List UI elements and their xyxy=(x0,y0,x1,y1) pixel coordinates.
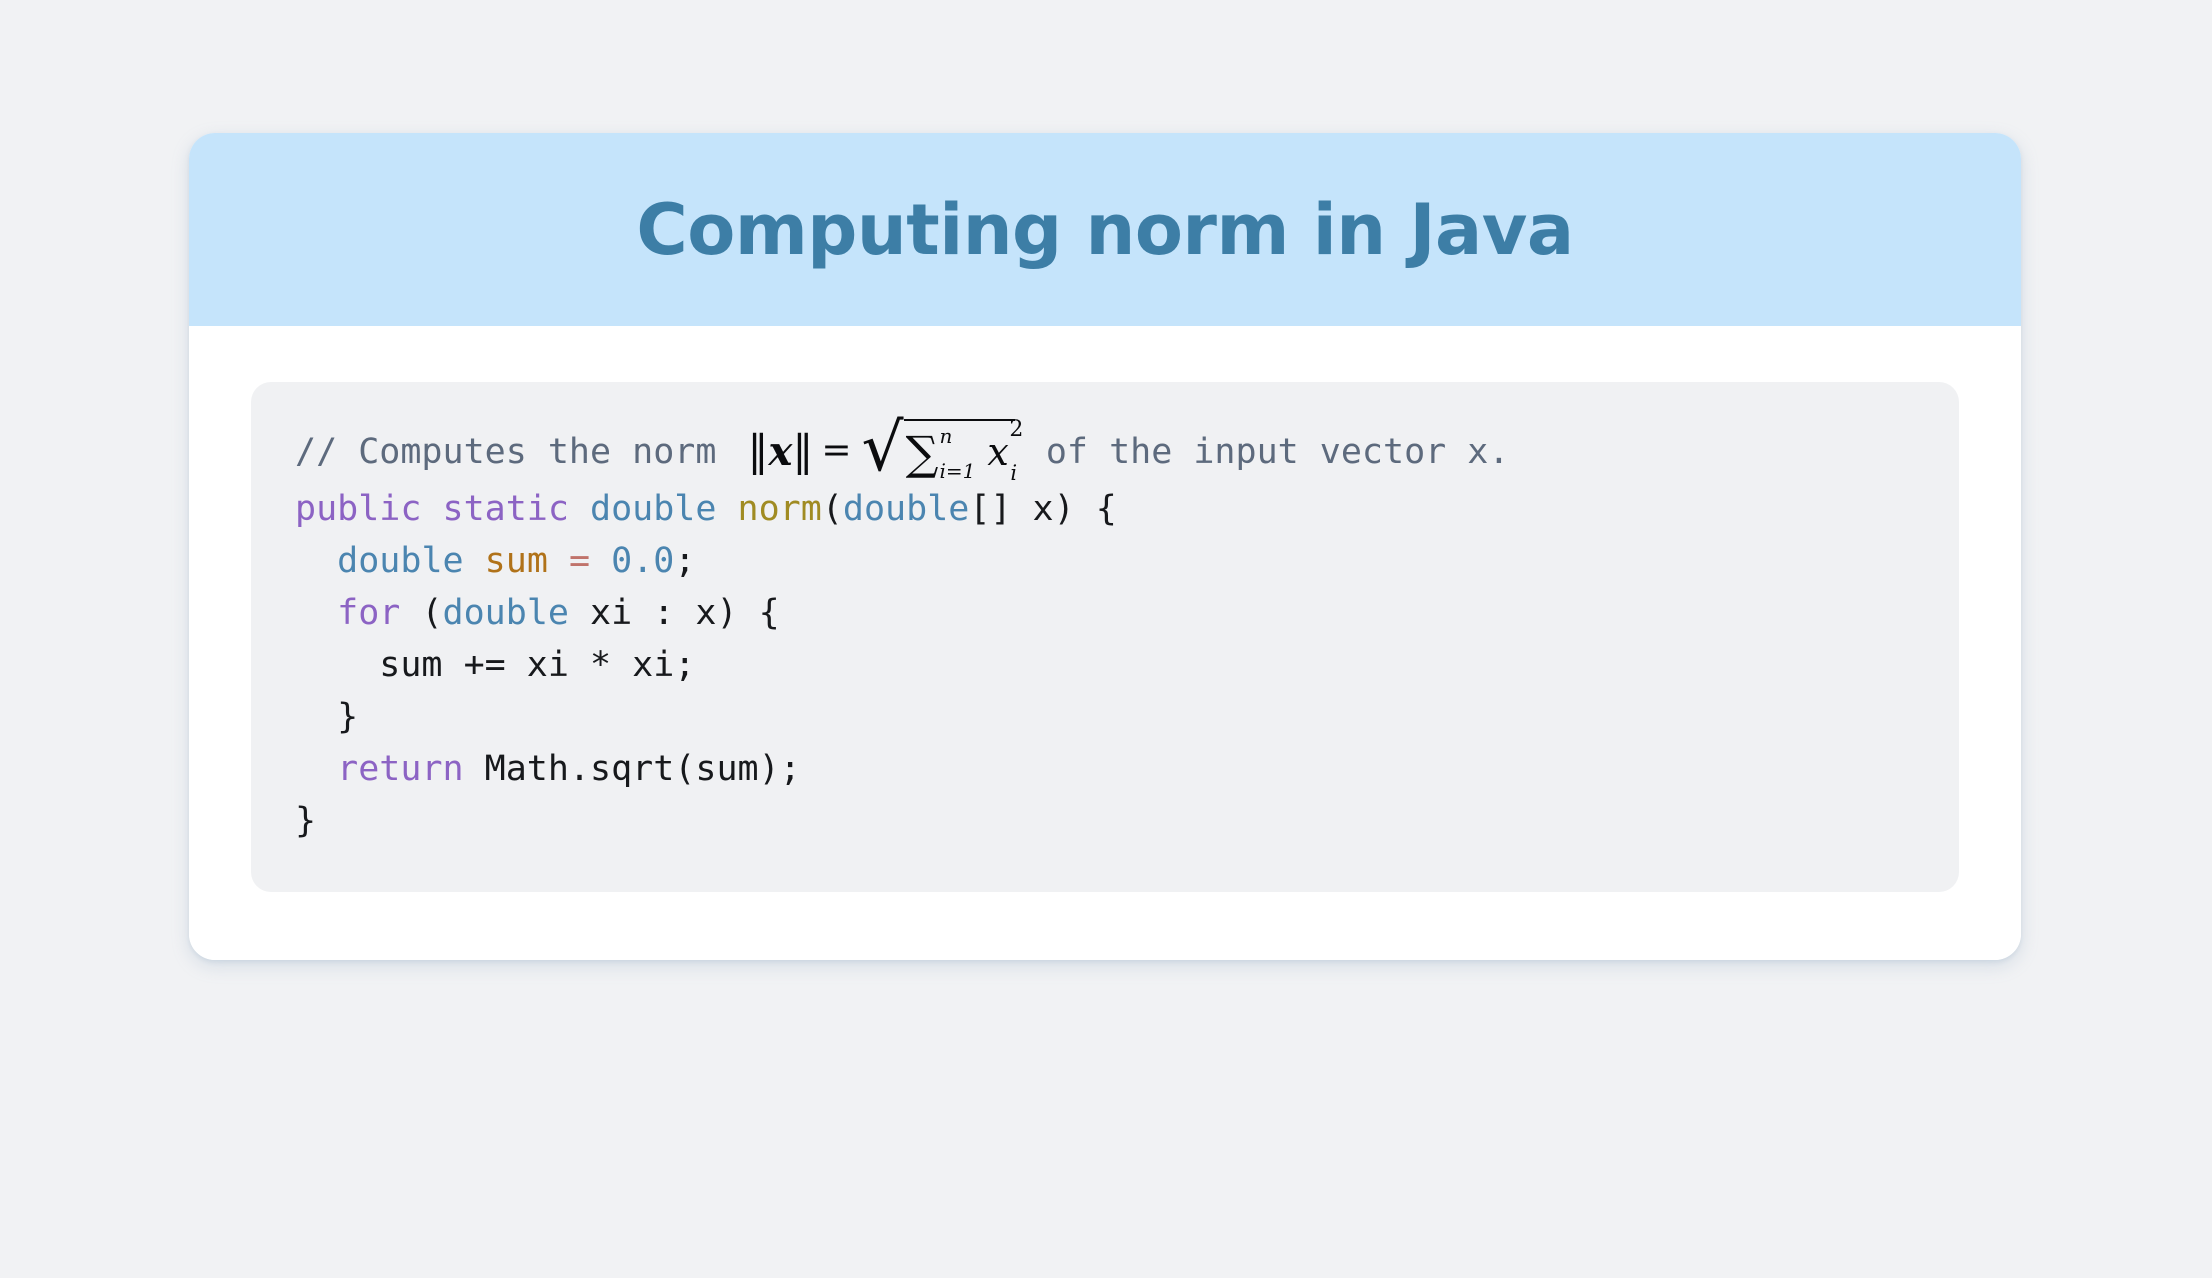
summand-base: x xyxy=(987,430,1008,474)
code-token-plain xyxy=(295,749,337,789)
code-line-signature: public static double norm(double[] x) { xyxy=(295,484,1915,536)
code-line-for-loop: for (double xi : x) { xyxy=(295,588,1915,640)
summand-index: i xyxy=(1010,458,1017,489)
math-equals-sign: = xyxy=(821,424,851,477)
math-summand: x2i xyxy=(987,424,1008,480)
code-token-type: double xyxy=(590,489,738,529)
code-token-plain: Math.sqrt(sum); xyxy=(464,749,801,789)
comment-slashes: // xyxy=(295,427,358,479)
math-formula-norm: ‖x‖ = √ ∑ n i=1 xyxy=(748,420,1015,482)
comment-text-before-math: Computes the norm xyxy=(358,427,737,479)
code-token-keyword: public static xyxy=(295,489,590,529)
code-token-plain: ( xyxy=(822,489,843,529)
norm-close-bar: ‖ xyxy=(792,426,813,475)
math-norm-notation: ‖x‖ xyxy=(748,420,814,482)
code-line-declare-sum: double sum = 0.0; xyxy=(295,536,1915,588)
radical-sign-icon: √ xyxy=(862,424,904,485)
code-token-type: double xyxy=(337,541,485,581)
code-token-plain xyxy=(295,541,337,581)
slide-header: Computing norm in Java xyxy=(189,133,2021,326)
summation-upper-limit: n xyxy=(939,426,975,446)
code-token-number: 0.0 xyxy=(611,541,674,581)
code-token-plain: } xyxy=(295,801,316,841)
code-token-keyword: return xyxy=(337,749,463,789)
code-token-type: double xyxy=(443,593,569,633)
summand-exponent: 2 xyxy=(1009,414,1023,447)
slide-stage: Computing norm in Java // Computes the n… xyxy=(0,0,2212,1278)
math-summation: ∑ n i=1 xyxy=(906,425,976,480)
sigma-icon: ∑ xyxy=(906,430,939,476)
summation-limits: n i=1 xyxy=(939,426,975,481)
math-radicand: ∑ n i=1 x2i xyxy=(904,419,1015,480)
code-line-return: return Math.sqrt(sum); xyxy=(295,744,1915,796)
code-token-plain: ; xyxy=(674,541,695,581)
code-line-accumulate: sum += xi * xi; xyxy=(295,640,1915,692)
code-block: // Computes the norm ‖x‖ = √ ∑ n xyxy=(251,382,1959,892)
slide-body: // Computes the norm ‖x‖ = √ ∑ n xyxy=(189,326,2021,960)
code-token-keyword: for xyxy=(337,593,400,633)
comment-text-after-math: of the input vector x. xyxy=(1025,427,1510,479)
page-title: Computing norm in Java xyxy=(636,195,1573,265)
code-token-operator: = xyxy=(569,541,590,581)
code-token-plain: sum += xi * xi; xyxy=(295,645,695,685)
math-square-root: √ ∑ n i=1 x2i xyxy=(862,420,1015,481)
code-token-function: norm xyxy=(738,489,822,529)
slide-card: Computing norm in Java // Computes the n… xyxy=(189,133,2021,960)
code-token-plain xyxy=(295,593,337,633)
code-token-type: double xyxy=(843,489,969,529)
code-line-close-method: } xyxy=(295,796,1915,848)
code-comment-line: // Computes the norm ‖x‖ = √ ∑ n xyxy=(295,422,1915,484)
norm-open-bar: ‖ xyxy=(748,426,769,475)
code-token-plain xyxy=(590,541,611,581)
norm-variable: x xyxy=(769,428,793,475)
code-token-plain: [] x) { xyxy=(969,489,1117,529)
code-token-plain: } xyxy=(295,697,358,737)
code-token-plain: xi : x) { xyxy=(569,593,780,633)
code-token-plain: ( xyxy=(400,593,442,633)
code-lines-container: public static double norm(double[] x) { … xyxy=(295,484,1915,848)
code-token-var: sum xyxy=(485,541,569,581)
code-line-close-for: } xyxy=(295,692,1915,744)
summation-lower-limit: i=1 xyxy=(939,461,975,481)
